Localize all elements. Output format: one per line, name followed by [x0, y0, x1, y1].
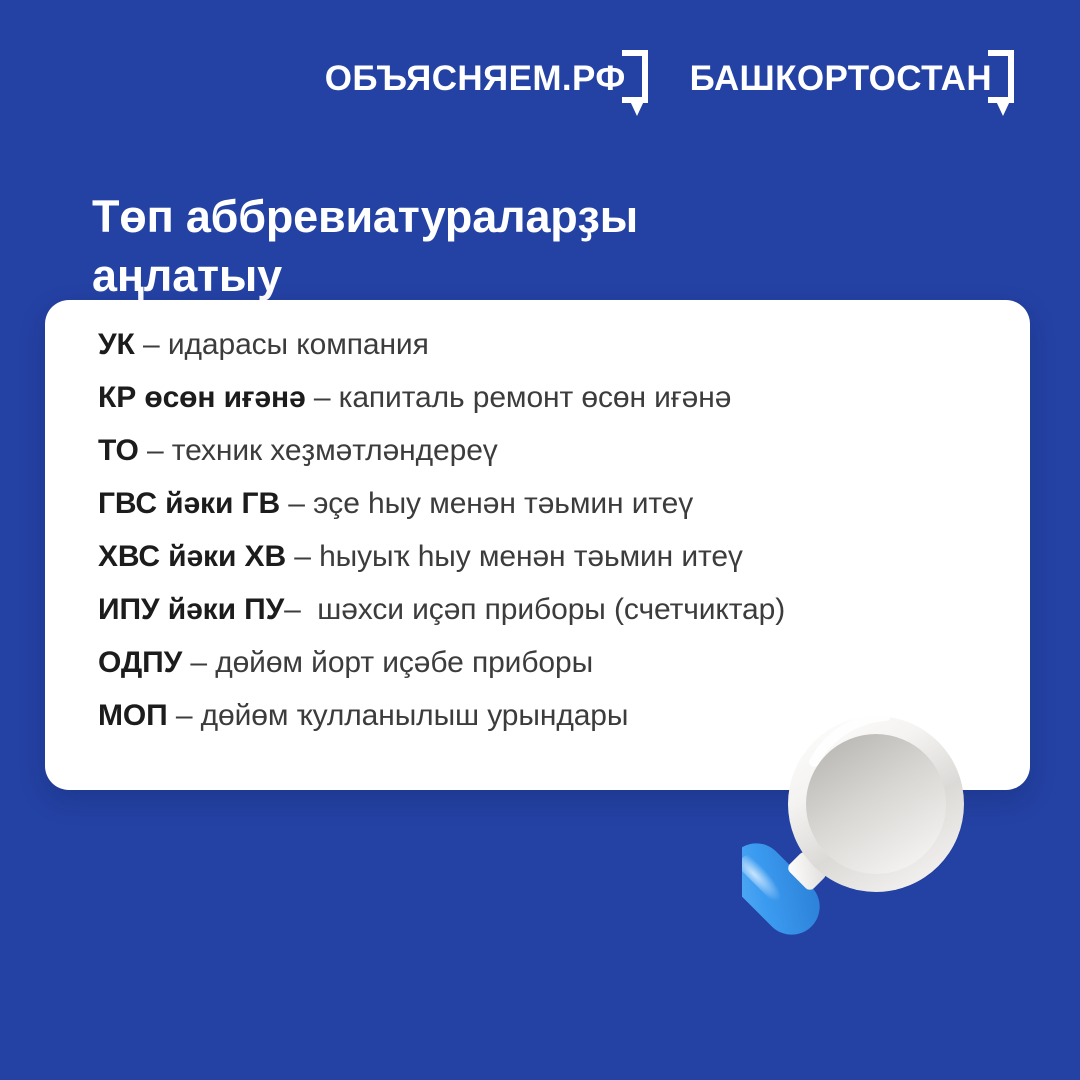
logo-primary-text: ОБЪЯСНЯЕМ.РФ [325, 50, 626, 96]
abbreviation-row: ХВС йәки ХВ – һыуыҡ һыу менән тәьмин ите… [98, 540, 1000, 593]
abbreviation-card: УК – идарасы компанияКР өсөн иғәнә – кап… [45, 300, 1030, 790]
bracket-tail [630, 101, 644, 116]
logo-obyasnyaem: ОБЪЯСНЯЕМ.РФ [325, 50, 662, 118]
abbreviation-row: КР өсөн иғәнә – капиталь ремонт өсөн иғә… [98, 381, 1000, 434]
bracket-right-bar [642, 50, 648, 103]
poster-canvas: ОБЪЯСНЯЕМ.РФ БАШКОРТОСТАН Төп аббревиату… [0, 0, 1080, 1080]
abbreviation-definition: – һыуыҡ һыу менән тәьмин итеү [286, 540, 743, 574]
abbreviation-term: МОП [98, 699, 168, 733]
abbreviation-list: УК – идарасы компанияКР өсөн иғәнә – кап… [98, 328, 1000, 752]
brand-logo-bar: ОБЪЯСНЯЕМ.РФ БАШКОРТОСТАН [0, 50, 1080, 142]
abbreviation-definition: – шәхси иçәп приборы (счетчиктар) [284, 593, 785, 627]
abbreviation-row: ИПУ йәки ПУ– шәхси иçәп приборы (счетчик… [98, 593, 1000, 646]
speech-bubble-bracket-icon [988, 50, 1028, 118]
bracket-right-bar [1008, 50, 1014, 103]
abbreviation-definition: – дөйөм ҡулланылыш урындары [168, 699, 629, 733]
logo-secondary-text: БАШКОРТОСТАН [690, 50, 992, 96]
abbreviation-definition: – капиталь ремонт өсөн иғәнә [306, 381, 732, 415]
abbreviation-row: МОП – дөйөм ҡулланылыш урындары [98, 699, 1000, 752]
abbreviation-definition: – техник хеҙмәтләндереү [139, 434, 498, 468]
abbreviation-row: ОДПУ – дөйөм йорт иçәбе приборы [98, 646, 1000, 699]
abbreviation-definition: – дөйөм йорт иçәбе приборы [182, 646, 593, 680]
abbreviation-definition: – эçе һыу менән тәьмин итеү [280, 487, 693, 521]
abbreviation-term: ХВС йәки ХВ [98, 540, 286, 574]
abbreviation-term: ТО [98, 434, 139, 468]
abbreviation-definition: – идарасы компания [135, 328, 429, 362]
abbreviation-row: ГВС йәки ГВ – эçе һыу менән тәьмин итеү [98, 487, 1000, 540]
logo-bashkortostan: БАШКОРТОСТАН [690, 50, 1028, 118]
abbreviation-row: ТО – техник хеҙмәтләндереү [98, 434, 1000, 487]
bracket-tail [996, 101, 1010, 116]
abbreviation-row: УК – идарасы компания [98, 328, 1000, 381]
abbreviation-term: ОДПУ [98, 646, 182, 680]
speech-bubble-bracket-icon [622, 50, 662, 118]
abbreviation-term: КР өсөн иғәнә [98, 381, 306, 415]
abbreviation-term: ИПУ йәки ПУ [98, 593, 284, 627]
abbreviation-term: УК [98, 328, 135, 362]
page-title: Төп аббревиатураларҙы аңлатыу [92, 188, 852, 305]
abbreviation-term: ГВС йәки ГВ [98, 487, 280, 521]
